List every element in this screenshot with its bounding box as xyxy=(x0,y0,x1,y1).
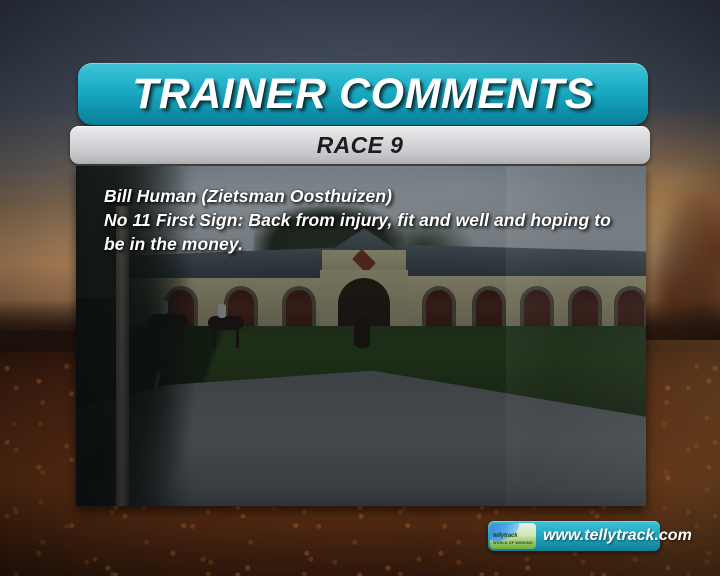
website-banner[interactable]: tellytrack WORLD OF WINNING www.tellytra… xyxy=(488,521,660,551)
race-number-label: RACE 9 xyxy=(317,132,404,159)
comment-body-line-1: No 11 First Sign: Back from injury, fit … xyxy=(104,208,614,232)
logo-name: tellytrack xyxy=(493,533,517,539)
race-subtitle-bar: RACE 9 xyxy=(70,126,650,164)
trainer-comments-card: TRAINER COMMENTS RACE 9 xyxy=(70,60,650,510)
tellytrack-logo-icon: tellytrack WORLD OF WINNING xyxy=(490,523,536,549)
title-bar: TRAINER COMMENTS xyxy=(78,63,648,125)
comment-body-line-2: be in the money. xyxy=(104,232,614,256)
logo-tagline: WORLD OF WINNING xyxy=(493,541,533,545)
trainer-comment-text: Bill Human (Zietsman Oosthuizen) No 11 F… xyxy=(104,184,614,256)
broadcast-screen: TRAINER COMMENTS RACE 9 xyxy=(0,0,720,576)
website-url: www.tellytrack.com xyxy=(543,527,692,545)
page-title: TRAINER COMMENTS xyxy=(132,70,594,119)
stable-photo-panel: Bill Human (Zietsman Oosthuizen) No 11 F… xyxy=(76,166,646,506)
comment-trainer-line: Bill Human (Zietsman Oosthuizen) xyxy=(104,184,614,208)
